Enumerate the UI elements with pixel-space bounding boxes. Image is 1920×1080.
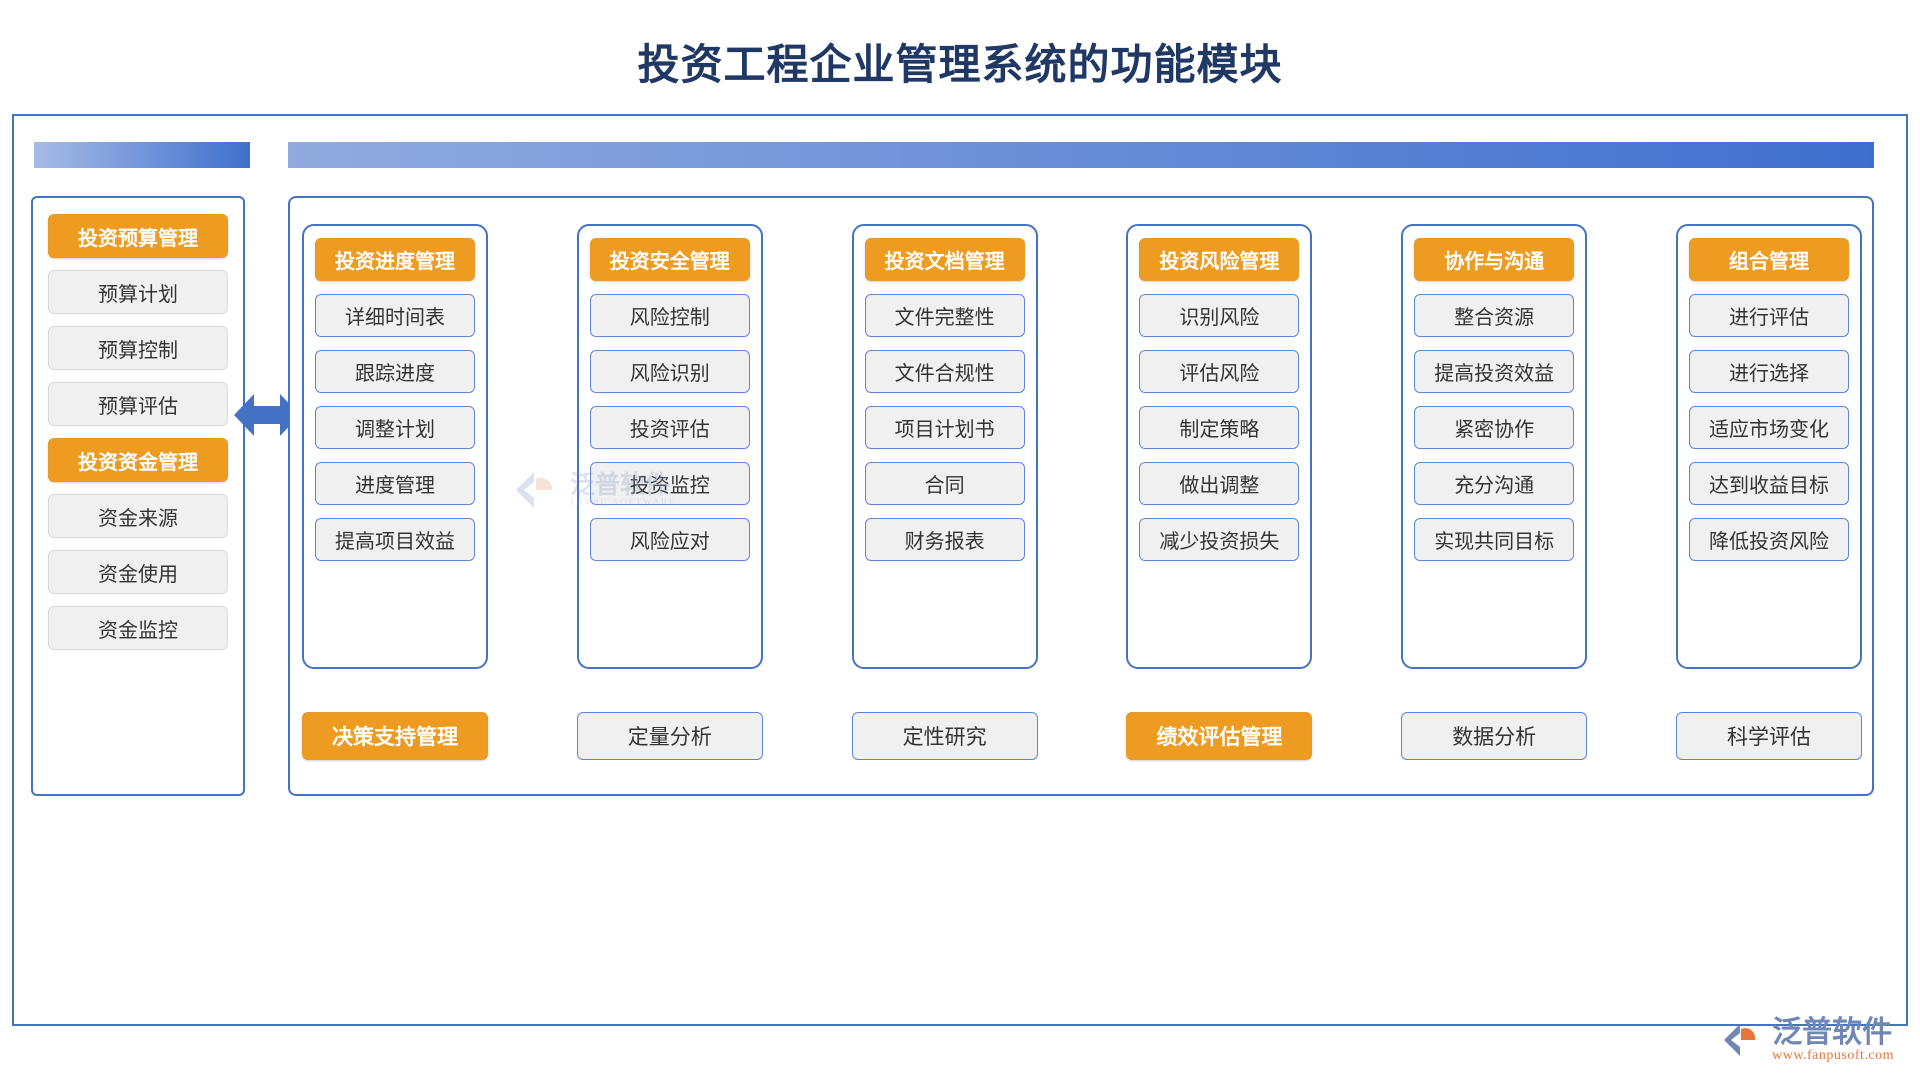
module-column-3-item-1[interactable]: 评估风险: [1139, 350, 1299, 393]
module-column-1-item-4[interactable]: 风险应对: [590, 518, 750, 561]
module-column-5-item-1[interactable]: 进行选择: [1689, 350, 1849, 393]
left-panel-item-3[interactable]: 预算评估: [48, 382, 228, 426]
diagram-page: 投资工程企业管理系统的功能模块 投资预算管理预算计划预算控制预算评估投资资金管理…: [0, 0, 1920, 1080]
bottom-row-item-0[interactable]: 决策支持管理: [302, 712, 488, 760]
bottom-module-row: 决策支持管理定量分析定性研究绩效评估管理数据分析科学评估: [302, 712, 1862, 762]
module-column-2-item-2[interactable]: 项目计划书: [865, 406, 1025, 449]
page-title: 投资工程企业管理系统的功能模块: [0, 42, 1920, 90]
module-column-4-item-1[interactable]: 提高投资效益: [1414, 350, 1574, 393]
module-column-4: 协作与沟通整合资源提高投资效益紧密协作充分沟通实现共同目标: [1401, 224, 1587, 669]
left-panel-item-5[interactable]: 资金来源: [48, 494, 228, 538]
left-panel-group-0[interactable]: 投资预算管理: [48, 214, 228, 258]
module-column-head-1[interactable]: 投资安全管理: [590, 238, 750, 281]
module-column-3: 投资风险管理识别风险评估风险制定策略做出调整减少投资损失: [1126, 224, 1312, 669]
left-panel: 投资预算管理预算计划预算控制预算评估投资资金管理资金来源资金使用资金监控: [31, 196, 245, 796]
module-column-2-item-0[interactable]: 文件完整性: [865, 294, 1025, 337]
module-column-4-item-4[interactable]: 实现共同目标: [1414, 518, 1574, 561]
module-column-2-item-1[interactable]: 文件合规性: [865, 350, 1025, 393]
module-column-0-item-3[interactable]: 进度管理: [315, 462, 475, 505]
module-column-5-item-2[interactable]: 适应市场变化: [1689, 406, 1849, 449]
module-column-5-item-3[interactable]: 达到收益目标: [1689, 462, 1849, 505]
bottom-row-item-1[interactable]: 定量分析: [577, 712, 763, 760]
module-column-1-item-1[interactable]: 风险识别: [590, 350, 750, 393]
module-column-5-item-0[interactable]: 进行评估: [1689, 294, 1849, 337]
module-column-2: 投资文档管理文件完整性文件合规性项目计划书合同财务报表: [852, 224, 1038, 669]
module-column-3-item-2[interactable]: 制定策略: [1139, 406, 1299, 449]
left-panel-item-6[interactable]: 资金使用: [48, 550, 228, 594]
module-column-head-0[interactable]: 投资进度管理: [315, 238, 475, 281]
brand-logo-icon: [1721, 1020, 1765, 1060]
bottom-row-item-5[interactable]: 科学评估: [1676, 712, 1862, 760]
module-column-1-item-2[interactable]: 投资评估: [590, 406, 750, 449]
bottom-row-item-3[interactable]: 绩效评估管理: [1126, 712, 1312, 760]
module-column-head-2[interactable]: 投资文档管理: [865, 238, 1025, 281]
module-column-0-item-0[interactable]: 详细时间表: [315, 294, 475, 337]
brand-name: 泛普软件: [1772, 1017, 1892, 1049]
module-column-2-item-3[interactable]: 合同: [865, 462, 1025, 505]
module-column-head-3[interactable]: 投资风险管理: [1139, 238, 1299, 281]
module-column-1-item-3[interactable]: 投资监控: [590, 462, 750, 505]
brand-logo: 泛普软件 www.fanpusoft.com: [1721, 1017, 1894, 1065]
brand-url: www.fanpusoft.com: [1772, 1048, 1894, 1064]
left-panel-item-7[interactable]: 资金监控: [48, 606, 228, 650]
module-column-head-5[interactable]: 组合管理: [1689, 238, 1849, 281]
module-column-1-item-0[interactable]: 风险控制: [590, 294, 750, 337]
left-header-bar: [34, 142, 250, 168]
module-column-5-item-4[interactable]: 降低投资风险: [1689, 518, 1849, 561]
module-column-0: 投资进度管理详细时间表跟踪进度调整计划进度管理提高项目效益: [302, 224, 488, 669]
module-column-4-item-0[interactable]: 整合资源: [1414, 294, 1574, 337]
module-column-2-item-4[interactable]: 财务报表: [865, 518, 1025, 561]
module-column-5: 组合管理进行评估进行选择适应市场变化达到收益目标降低投资风险: [1676, 224, 1862, 669]
module-column-3-item-3[interactable]: 做出调整: [1139, 462, 1299, 505]
left-panel-group-4[interactable]: 投资资金管理: [48, 438, 228, 482]
module-column-1: 投资安全管理风险控制风险识别投资评估投资监控风险应对: [577, 224, 763, 669]
module-column-4-item-3[interactable]: 充分沟通: [1414, 462, 1574, 505]
bottom-row-item-2[interactable]: 定性研究: [852, 712, 1038, 760]
module-column-0-item-2[interactable]: 调整计划: [315, 406, 475, 449]
left-panel-item-2[interactable]: 预算控制: [48, 326, 228, 370]
module-column-head-4[interactable]: 协作与沟通: [1414, 238, 1574, 281]
module-column-4-item-2[interactable]: 紧密协作: [1414, 406, 1574, 449]
module-columns: 投资进度管理详细时间表跟踪进度调整计划进度管理提高项目效益投资安全管理风险控制风…: [302, 224, 1862, 674]
left-panel-item-1[interactable]: 预算计划: [48, 270, 228, 314]
module-column-3-item-4[interactable]: 减少投资损失: [1139, 518, 1299, 561]
module-column-0-item-4[interactable]: 提高项目效益: [315, 518, 475, 561]
module-column-3-item-0[interactable]: 识别风险: [1139, 294, 1299, 337]
module-column-0-item-1[interactable]: 跟踪进度: [315, 350, 475, 393]
right-header-bar: [288, 142, 1874, 168]
bottom-row-item-4[interactable]: 数据分析: [1401, 712, 1587, 760]
